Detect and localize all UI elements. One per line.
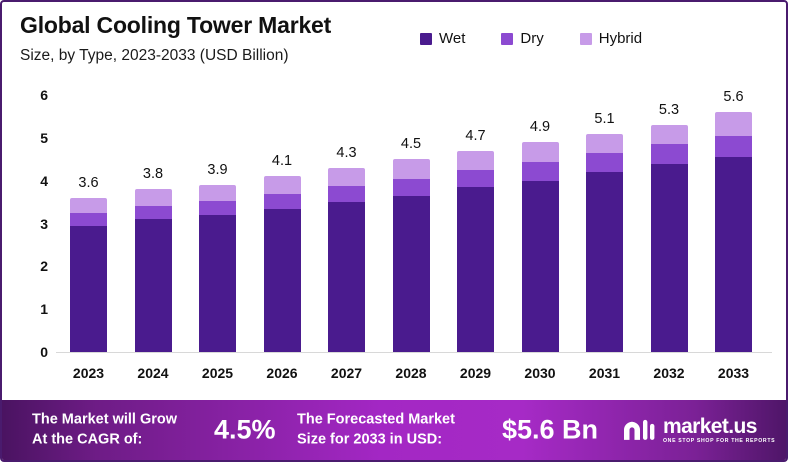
chart-card: Global Cooling Tower Market Size, by Typ…: [0, 0, 788, 462]
bar-group[interactable]: 5.62033: [715, 82, 752, 387]
bar-segment-hybrid[interactable]: [715, 112, 752, 136]
y-axis-tick: 0: [22, 344, 48, 360]
bar-group[interactable]: 4.12026: [264, 82, 301, 387]
bar-segment-wet[interactable]: [393, 196, 430, 352]
bar-group[interactable]: 5.12031: [586, 82, 623, 387]
y-axis-tick: 5: [22, 130, 48, 146]
x-axis-label: 2033: [718, 365, 749, 381]
stacked-bar[interactable]: [199, 185, 236, 352]
bar-value-label: 4.7: [465, 128, 485, 144]
bar-segment-wet[interactable]: [264, 209, 301, 352]
bar-group[interactable]: 4.72029: [457, 82, 494, 387]
bar-segment-hybrid[interactable]: [522, 142, 559, 162]
bar-segment-wet[interactable]: [328, 202, 365, 352]
bar-group[interactable]: 3.92025: [199, 82, 236, 387]
bar-segment-wet[interactable]: [199, 215, 236, 352]
bar-value-label: 3.6: [78, 175, 98, 191]
stacked-bar[interactable]: [457, 151, 494, 352]
y-axis-tick: 1: [22, 301, 48, 317]
bar-value-label: 5.1: [594, 111, 614, 127]
page-title: Global Cooling Tower Market: [20, 12, 331, 39]
forecast-value: $5.6 Bn: [502, 415, 598, 446]
legend-label: Wet: [439, 30, 465, 47]
bar-segment-hybrid[interactable]: [264, 176, 301, 193]
bar-value-label: 5.6: [723, 89, 743, 105]
stacked-bar[interactable]: [70, 198, 107, 352]
bar-segment-hybrid[interactable]: [393, 159, 430, 178]
legend-item-wet[interactable]: Wet: [420, 30, 465, 47]
brand-tagline: ONE STOP SHOP FOR THE REPORTS: [663, 439, 775, 444]
stacked-bar[interactable]: [328, 168, 365, 352]
bar-group[interactable]: 3.62023: [70, 82, 107, 387]
stacked-bar[interactable]: [651, 125, 688, 352]
stacked-bar[interactable]: [264, 176, 301, 352]
stacked-bar[interactable]: [522, 142, 559, 352]
bar-segment-hybrid[interactable]: [199, 185, 236, 201]
x-axis-label: 2024: [137, 365, 168, 381]
legend-swatch-icon: [580, 33, 592, 45]
bar-segment-hybrid[interactable]: [457, 151, 494, 170]
plot-area: 01234563.620233.820243.920254.120264.320…: [2, 82, 788, 387]
bar-segment-dry[interactable]: [135, 206, 172, 220]
footer-banner: The Market will Grow At the CAGR of: 4.5…: [2, 400, 788, 460]
y-axis-tick: 4: [22, 173, 48, 189]
cagr-value: 4.5%: [214, 415, 276, 446]
bar-segment-wet[interactable]: [522, 181, 559, 352]
forecast-caption-line-1: The Forecasted Market: [297, 410, 455, 430]
x-axis-label: 2030: [524, 365, 555, 381]
bar-segment-wet[interactable]: [715, 157, 752, 352]
stacked-bar[interactable]: [393, 159, 430, 352]
stacked-bar[interactable]: [135, 189, 172, 352]
bar-segment-dry[interactable]: [457, 170, 494, 188]
x-axis-label: 2031: [589, 365, 620, 381]
legend-swatch-icon: [501, 33, 513, 45]
bar-segment-wet[interactable]: [457, 187, 494, 352]
bar-group[interactable]: 4.92030: [522, 82, 559, 387]
x-axis-label: 2032: [653, 365, 684, 381]
bar-segment-wet[interactable]: [70, 226, 107, 352]
x-axis-label: 2028: [395, 365, 426, 381]
legend-item-hybrid[interactable]: Hybrid: [580, 30, 642, 47]
forecast-caption: The Forecasted Market Size for 2033 in U…: [297, 410, 455, 449]
stacked-bar[interactable]: [586, 134, 623, 352]
legend-label: Hybrid: [599, 30, 642, 47]
bar-segment-dry[interactable]: [522, 162, 559, 180]
legend-swatch-icon: [420, 33, 432, 45]
bar-segment-hybrid[interactable]: [70, 198, 107, 213]
chart-legend: WetDryHybrid: [420, 30, 642, 47]
bar-value-label: 4.1: [272, 153, 292, 169]
bar-group[interactable]: 5.32032: [651, 82, 688, 387]
cagr-caption: The Market will Grow At the CAGR of:: [32, 410, 177, 449]
brand-mark-icon: [622, 418, 656, 442]
x-axis-label: 2026: [266, 365, 297, 381]
x-axis-label: 2027: [331, 365, 362, 381]
bar-group[interactable]: 4.32027: [328, 82, 365, 387]
bar-segment-hybrid[interactable]: [328, 168, 365, 186]
bar-segment-dry[interactable]: [199, 201, 236, 215]
brand-text: market.us ONE STOP SHOP FOR THE REPORTS: [663, 416, 775, 444]
bar-segment-dry[interactable]: [264, 194, 301, 209]
bar-value-label: 4.9: [530, 119, 550, 135]
y-axis-tick: 3: [22, 216, 48, 232]
cagr-caption-line-1: The Market will Grow: [32, 410, 177, 430]
x-axis-label: 2025: [202, 365, 233, 381]
bar-segment-wet[interactable]: [651, 164, 688, 352]
legend-item-dry[interactable]: Dry: [501, 30, 543, 47]
bar-value-label: 5.3: [659, 102, 679, 118]
stacked-bar[interactable]: [715, 112, 752, 352]
y-axis-tick: 2: [22, 258, 48, 274]
bar-segment-dry[interactable]: [651, 144, 688, 163]
bar-value-label: 4.3: [336, 145, 356, 161]
brand-name: market.us: [663, 416, 775, 437]
bar-segment-hybrid[interactable]: [586, 134, 623, 153]
bar-segment-dry[interactable]: [328, 186, 365, 202]
y-axis-tick: 6: [22, 87, 48, 103]
bar-value-label: 3.9: [207, 162, 227, 178]
legend-label: Dry: [520, 30, 543, 47]
bar-segment-dry[interactable]: [715, 136, 752, 157]
chart-subtitle: Size, by Type, 2023-2033 (USD Billion): [20, 47, 289, 65]
market-us-logo[interactable]: market.us ONE STOP SHOP FOR THE REPORTS: [622, 416, 775, 444]
bar-segment-dry[interactable]: [586, 153, 623, 172]
bar-segment-hybrid[interactable]: [135, 189, 172, 205]
bar-segment-wet[interactable]: [586, 172, 623, 352]
x-axis-label: 2023: [73, 365, 104, 381]
x-axis-label: 2029: [460, 365, 491, 381]
bar-segment-dry[interactable]: [393, 179, 430, 196]
forecast-caption-line-2: Size for 2033 in USD:: [297, 430, 455, 450]
bar-group[interactable]: 4.52028: [393, 82, 430, 387]
bar-value-label: 3.8: [143, 166, 163, 182]
bar-segment-hybrid[interactable]: [651, 125, 688, 144]
cagr-caption-line-2: At the CAGR of:: [32, 430, 177, 450]
bar-segment-wet[interactable]: [135, 219, 172, 352]
chart-header: Global Cooling Tower Market Size, by Typ…: [2, 2, 788, 82]
bar-segment-dry[interactable]: [70, 213, 107, 226]
bar-value-label: 4.5: [401, 136, 421, 152]
bar-group[interactable]: 3.82024: [135, 82, 172, 387]
